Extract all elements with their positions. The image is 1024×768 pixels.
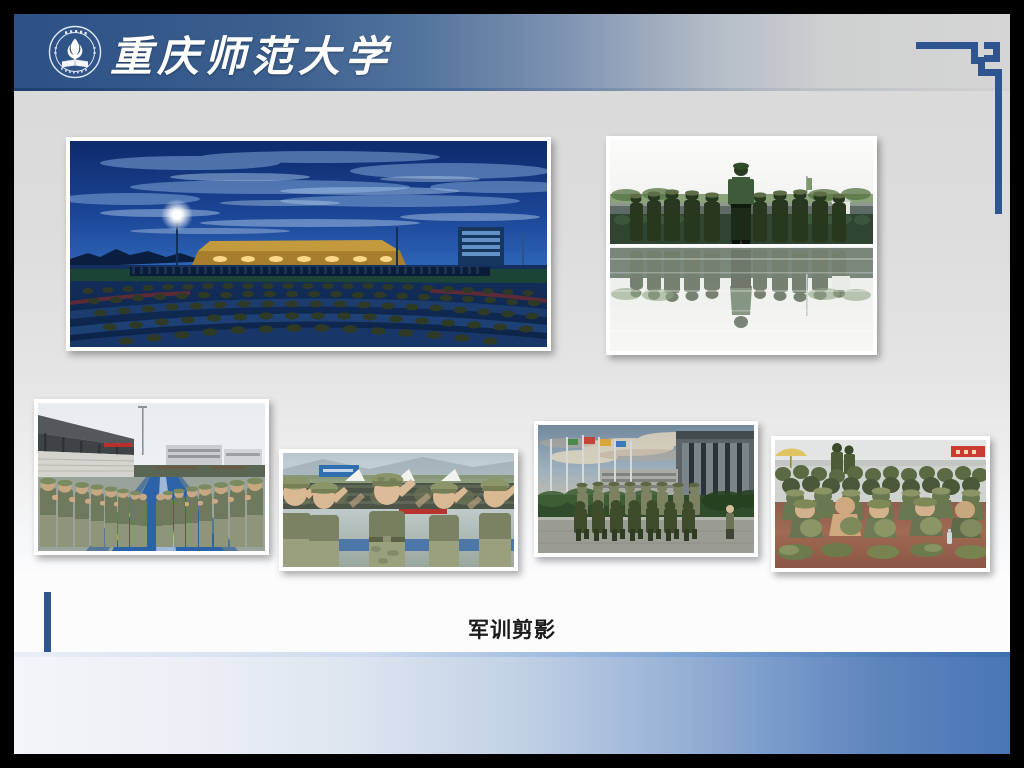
bottom-gradient-band [14,652,1010,754]
university-name: 重庆师范大学 [110,22,392,84]
slide-canvas: 重庆师范大学 [14,14,1010,754]
slide-caption: 军训剪影 [14,614,1010,644]
photo-march-campus-image [538,425,754,553]
photo-instructor-reflection[interactable] [606,136,877,355]
photo-march-campus[interactable] [534,421,758,557]
top-right-ornament [914,24,1010,218]
photo-salute[interactable] [279,449,518,571]
university-crest-icon [48,25,102,79]
photo-track-formation-image [38,403,265,551]
photo-stadium-dusk[interactable] [66,137,551,351]
photo-instructor-reflection-image [610,140,873,351]
photo-salute-image [283,453,514,567]
photo-stadium-dusk-image [70,141,547,347]
band-fill [14,657,1010,754]
photo-track-formation[interactable] [34,399,269,555]
photo-rest-ground[interactable] [771,436,990,572]
photo-rest-ground-image [775,440,986,568]
header-underline [14,88,1010,91]
